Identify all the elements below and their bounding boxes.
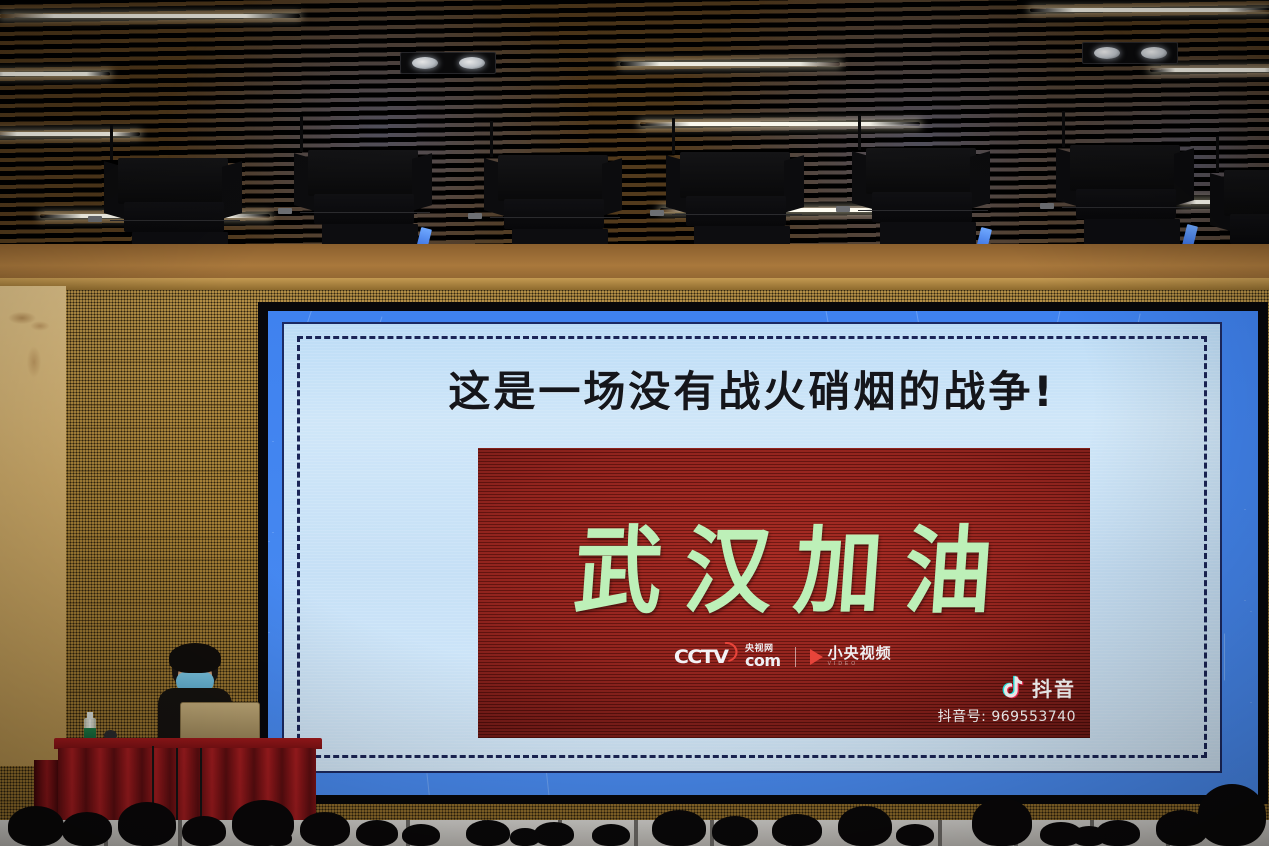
fixture-arm	[110, 220, 240, 221]
fixture-base	[686, 196, 786, 226]
strip-light	[1150, 68, 1269, 72]
downlight-lamp	[412, 57, 438, 69]
audience-head	[264, 830, 292, 846]
fixture-label	[278, 208, 292, 214]
fixture-stem	[672, 118, 675, 154]
barn-door-right	[784, 155, 804, 213]
hex-decoration	[1224, 611, 1258, 703]
slide-headline: 这是一场没有战火硝烟的战争!	[284, 358, 1220, 419]
slide-panel: 这是一场没有战火硝烟的战争! 武汉加油 CCTV 央视网 com	[282, 322, 1222, 773]
audience-head	[838, 806, 892, 846]
downlight-lamp	[1094, 47, 1120, 59]
audience-head	[300, 812, 350, 846]
audience-head	[896, 824, 934, 846]
fixture-stem	[858, 114, 861, 150]
audience-head	[182, 816, 226, 846]
fixture-base	[872, 192, 972, 222]
barn-door-right	[412, 153, 432, 211]
barn-door-right	[1174, 148, 1194, 206]
led-screen[interactable]: 这是一场没有战火硝烟的战争! 武汉加油 CCTV 央视网 com	[258, 302, 1268, 804]
fixture-label	[468, 213, 482, 219]
fixture-body	[866, 148, 976, 194]
douyin-note-icon	[1001, 675, 1025, 701]
recessed-downlight	[1082, 42, 1178, 64]
strip-light	[620, 62, 840, 66]
audience-head	[8, 806, 64, 846]
downlight-lamp	[1141, 47, 1167, 59]
audience-head	[62, 812, 112, 846]
red-banner: 武汉加油 CCTV 央视网 com 小央视频	[478, 448, 1090, 738]
audience-head	[510, 828, 540, 846]
audience-head	[356, 820, 398, 846]
fixture-base	[124, 202, 224, 232]
strip-light	[0, 14, 300, 18]
ceiling	[0, 0, 1269, 292]
fixture-arm	[1062, 207, 1192, 208]
audience-head	[592, 824, 630, 846]
xiaoyang-wordmark: 小央视频 VIDEO	[828, 646, 892, 667]
audience-head	[712, 816, 758, 846]
xiaoyang-video-logo: 小央视频 VIDEO	[810, 646, 892, 667]
wall-decorative-painting	[4, 300, 62, 396]
douyin-account-id: 抖音号: 969553740	[938, 706, 1076, 726]
audience-head	[1072, 826, 1106, 846]
recessed-downlight	[400, 52, 496, 74]
fixture-arm	[858, 210, 988, 211]
audience	[0, 782, 1269, 846]
fixture-arm	[672, 214, 802, 215]
xiaoyang-label: 小央视频	[828, 646, 892, 662]
strip-light	[0, 132, 140, 136]
audience-head	[1198, 784, 1266, 846]
fixture-body	[680, 152, 790, 198]
fixture-label	[650, 210, 664, 216]
fixture-body	[498, 155, 608, 201]
fixture-stem	[110, 124, 113, 160]
fixture-stem	[490, 121, 493, 157]
cctv-cn-bottom: com	[745, 653, 781, 669]
presenter-hair	[169, 643, 221, 673]
play-triangle-icon	[810, 649, 823, 665]
fixture-body	[1224, 170, 1269, 216]
audience-head	[534, 822, 574, 846]
fixture-label	[88, 216, 102, 222]
audience-head	[652, 810, 706, 846]
fixture-body	[308, 150, 418, 196]
fixture-arm	[490, 217, 620, 218]
strip-light	[1030, 8, 1269, 12]
fixture-body	[1070, 145, 1180, 191]
hex-decoration	[1218, 509, 1258, 601]
chair-divider	[938, 820, 942, 846]
logo-divider	[795, 647, 796, 667]
downlight-lamp	[459, 57, 485, 69]
audience-head	[772, 814, 822, 846]
barn-door-right	[970, 151, 990, 209]
audience-head	[402, 824, 440, 846]
cctv-logo-icon: CCTV	[674, 646, 732, 668]
fixture-label	[836, 206, 850, 212]
banner-calligraphy-title: 武汉加油	[478, 495, 1090, 632]
laptop	[180, 702, 260, 740]
fixture-label	[1040, 203, 1054, 209]
fixture-stem	[300, 116, 303, 152]
barn-door-right	[222, 161, 242, 219]
fixture-base	[1076, 189, 1176, 219]
fixture-base	[504, 199, 604, 229]
fixture-body	[118, 158, 228, 204]
broadcaster-logo-row: CCTV 央视网 com 小央视频 VIDEO	[478, 644, 1090, 669]
douyin-name-row: 抖音	[938, 673, 1076, 702]
fixture-base	[1230, 214, 1269, 244]
fixture-arm	[300, 212, 430, 213]
douyin-label: 抖音	[1032, 673, 1076, 702]
chair-divider	[634, 820, 638, 846]
screen-content: 这是一场没有战火硝烟的战争! 武汉加油 CCTV 央视网 com	[268, 311, 1258, 795]
cctv-cn-wordmark: 央视网 com	[745, 644, 781, 669]
barn-door-right	[602, 158, 622, 216]
xiaoyang-sub: VIDEO	[828, 662, 892, 667]
bottle-cap	[87, 712, 93, 719]
wall-top-trim	[0, 278, 1269, 290]
fixture-stem	[1216, 136, 1219, 172]
audience-head	[118, 802, 176, 846]
audience-head	[972, 798, 1032, 846]
strip-light	[0, 72, 110, 76]
photo-scene: 这是一场没有战火硝烟的战争! 武汉加油 CCTV 央视网 com	[0, 0, 1269, 846]
fixture-base	[314, 194, 414, 224]
audience-head	[466, 820, 510, 846]
strip-light	[640, 122, 920, 126]
fixture-stem	[1062, 111, 1065, 147]
douyin-watermark: 抖音 抖音号: 969553740	[938, 673, 1076, 726]
